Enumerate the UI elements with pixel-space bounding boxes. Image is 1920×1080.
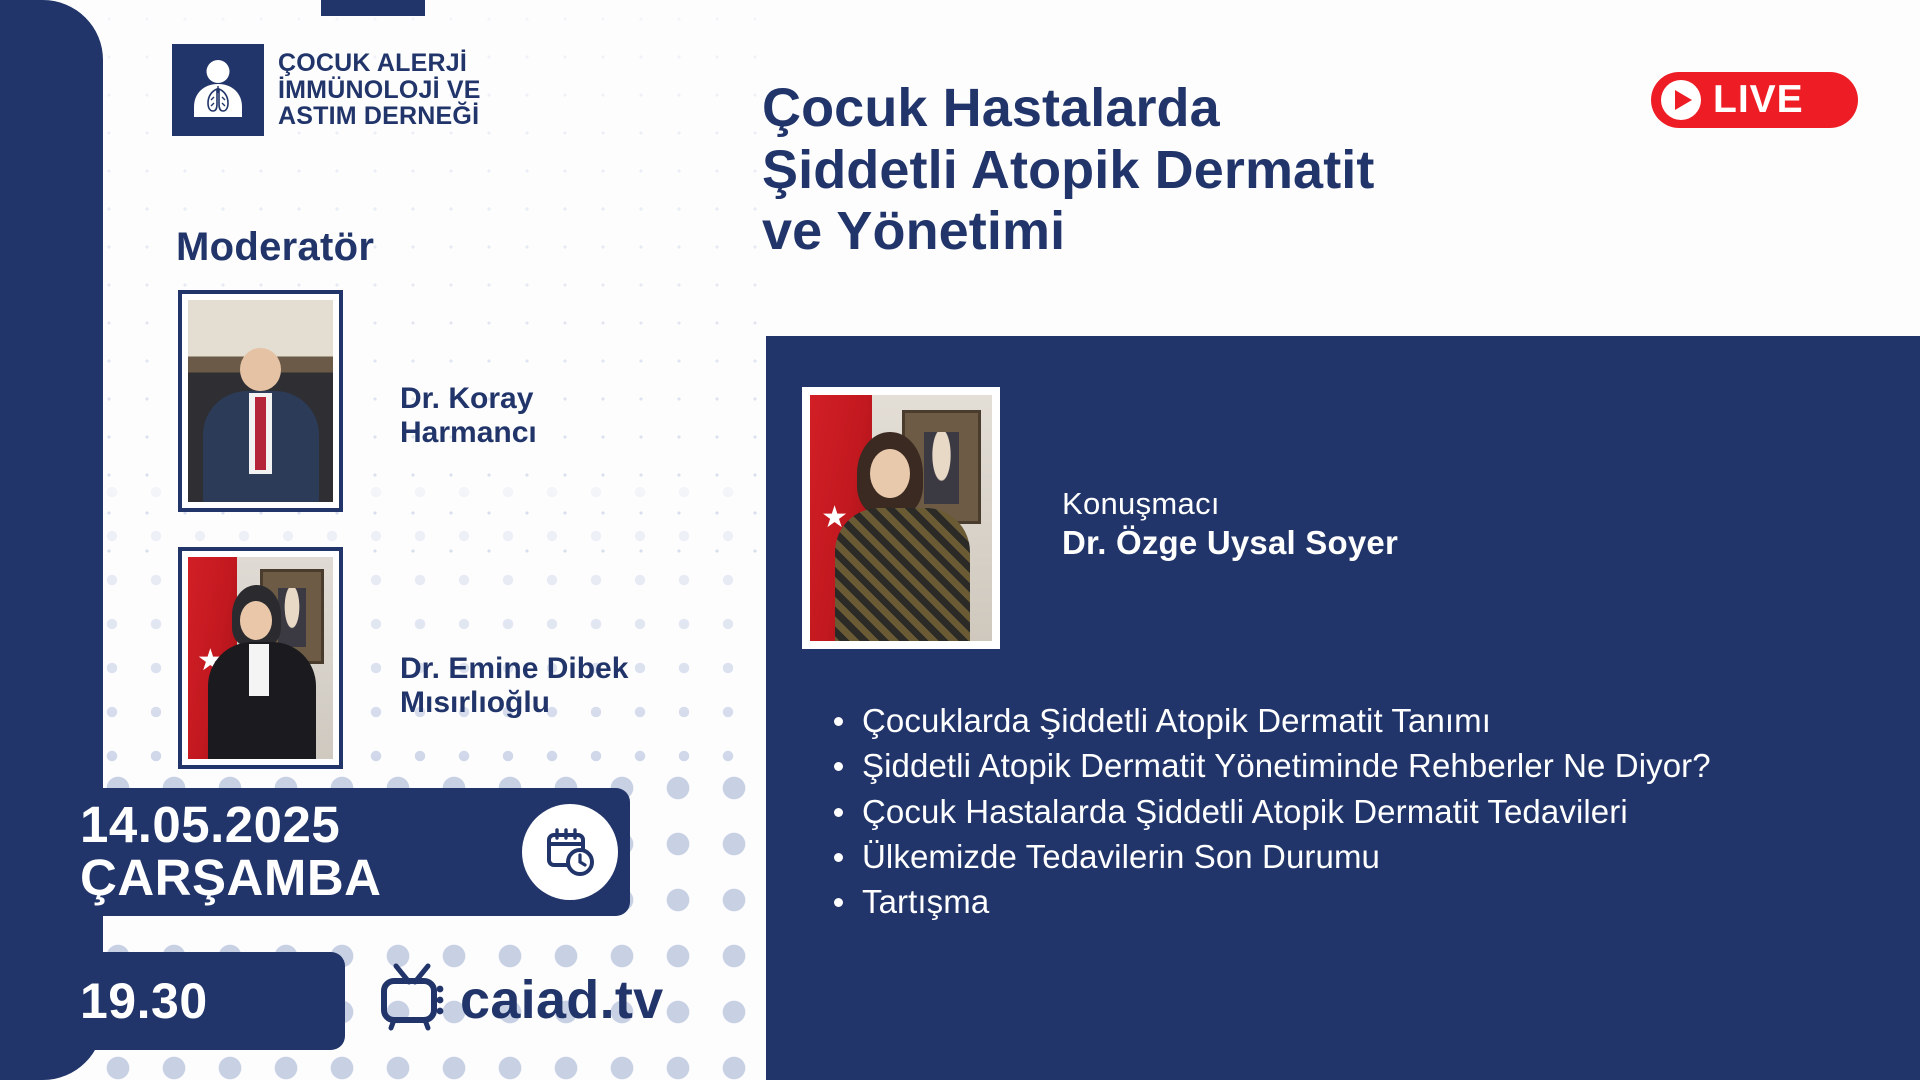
organization-name: ÇOCUK ALERJİ İMMÜNOLOJİ VE ASTIM DERNEĞİ	[278, 50, 481, 130]
person-lungs-icon	[172, 44, 264, 136]
page-title: Çocuk Hastalarda Şiddetli Atopik Dermati…	[762, 78, 1592, 263]
topic-item: Çocuklarda Şiddetli Atopik Dermatit Tanı…	[822, 700, 1882, 741]
time-badge: 19.30	[40, 952, 345, 1050]
topic-item: Ülkemizde Tedavilerin Son Durumu	[822, 836, 1882, 877]
portrait-image: ★	[810, 395, 992, 641]
moderator-heading: Moderatör	[176, 225, 374, 270]
speaker-role: Konuşmacı	[1062, 486, 1220, 522]
moderator-photo-2: ★	[178, 547, 343, 769]
portrait-image: ★	[188, 557, 333, 759]
live-label: LIVE	[1713, 78, 1804, 122]
portrait-image	[188, 300, 333, 502]
moderator-name-2: Dr. Emine Dibek Mısırlıoğlu	[400, 652, 628, 719]
website-text: caiad.tv	[460, 969, 664, 1031]
topics-list: Çocuklarda Şiddetli Atopik Dermatit Tanı…	[822, 700, 1882, 926]
calendar-clock-icon	[522, 804, 618, 900]
moderator-photo-1	[178, 290, 343, 512]
event-time: 19.30	[80, 972, 208, 1030]
moderator-name-1: Dr. Koray Harmancı	[400, 382, 537, 449]
event-date: 14.05.2025 ÇARŞAMBA	[80, 799, 381, 904]
topic-item: Çocuk Hastalarda Şiddetli Atopik Dermati…	[822, 791, 1882, 832]
webinar-poster: ÇOCUK ALERJİ İMMÜNOLOJİ VE ASTIM DERNEĞİ…	[0, 0, 1920, 1080]
association-logo: ÇOCUK ALERJİ İMMÜNOLOJİ VE ASTIM DERNEĞİ	[172, 44, 481, 136]
tv-icon	[378, 962, 452, 1037]
website-row[interactable]: caiad.tv	[378, 962, 664, 1037]
play-icon	[1661, 80, 1701, 120]
date-badge: 14.05.2025 ÇARŞAMBA	[40, 788, 630, 916]
left-navy-bar	[0, 0, 103, 1080]
speaker-name: Dr. Özge Uysal Soyer	[1062, 524, 1398, 562]
topic-item: Tartışma	[822, 881, 1882, 922]
speaker-photo: ★	[797, 382, 1005, 654]
topic-item: Şiddetli Atopik Dermatit Yönetiminde Reh…	[822, 745, 1882, 786]
top-navy-tab	[321, 0, 425, 16]
dot-pattern-decoration	[0, 0, 790, 1080]
live-badge[interactable]: LIVE	[1651, 72, 1858, 128]
